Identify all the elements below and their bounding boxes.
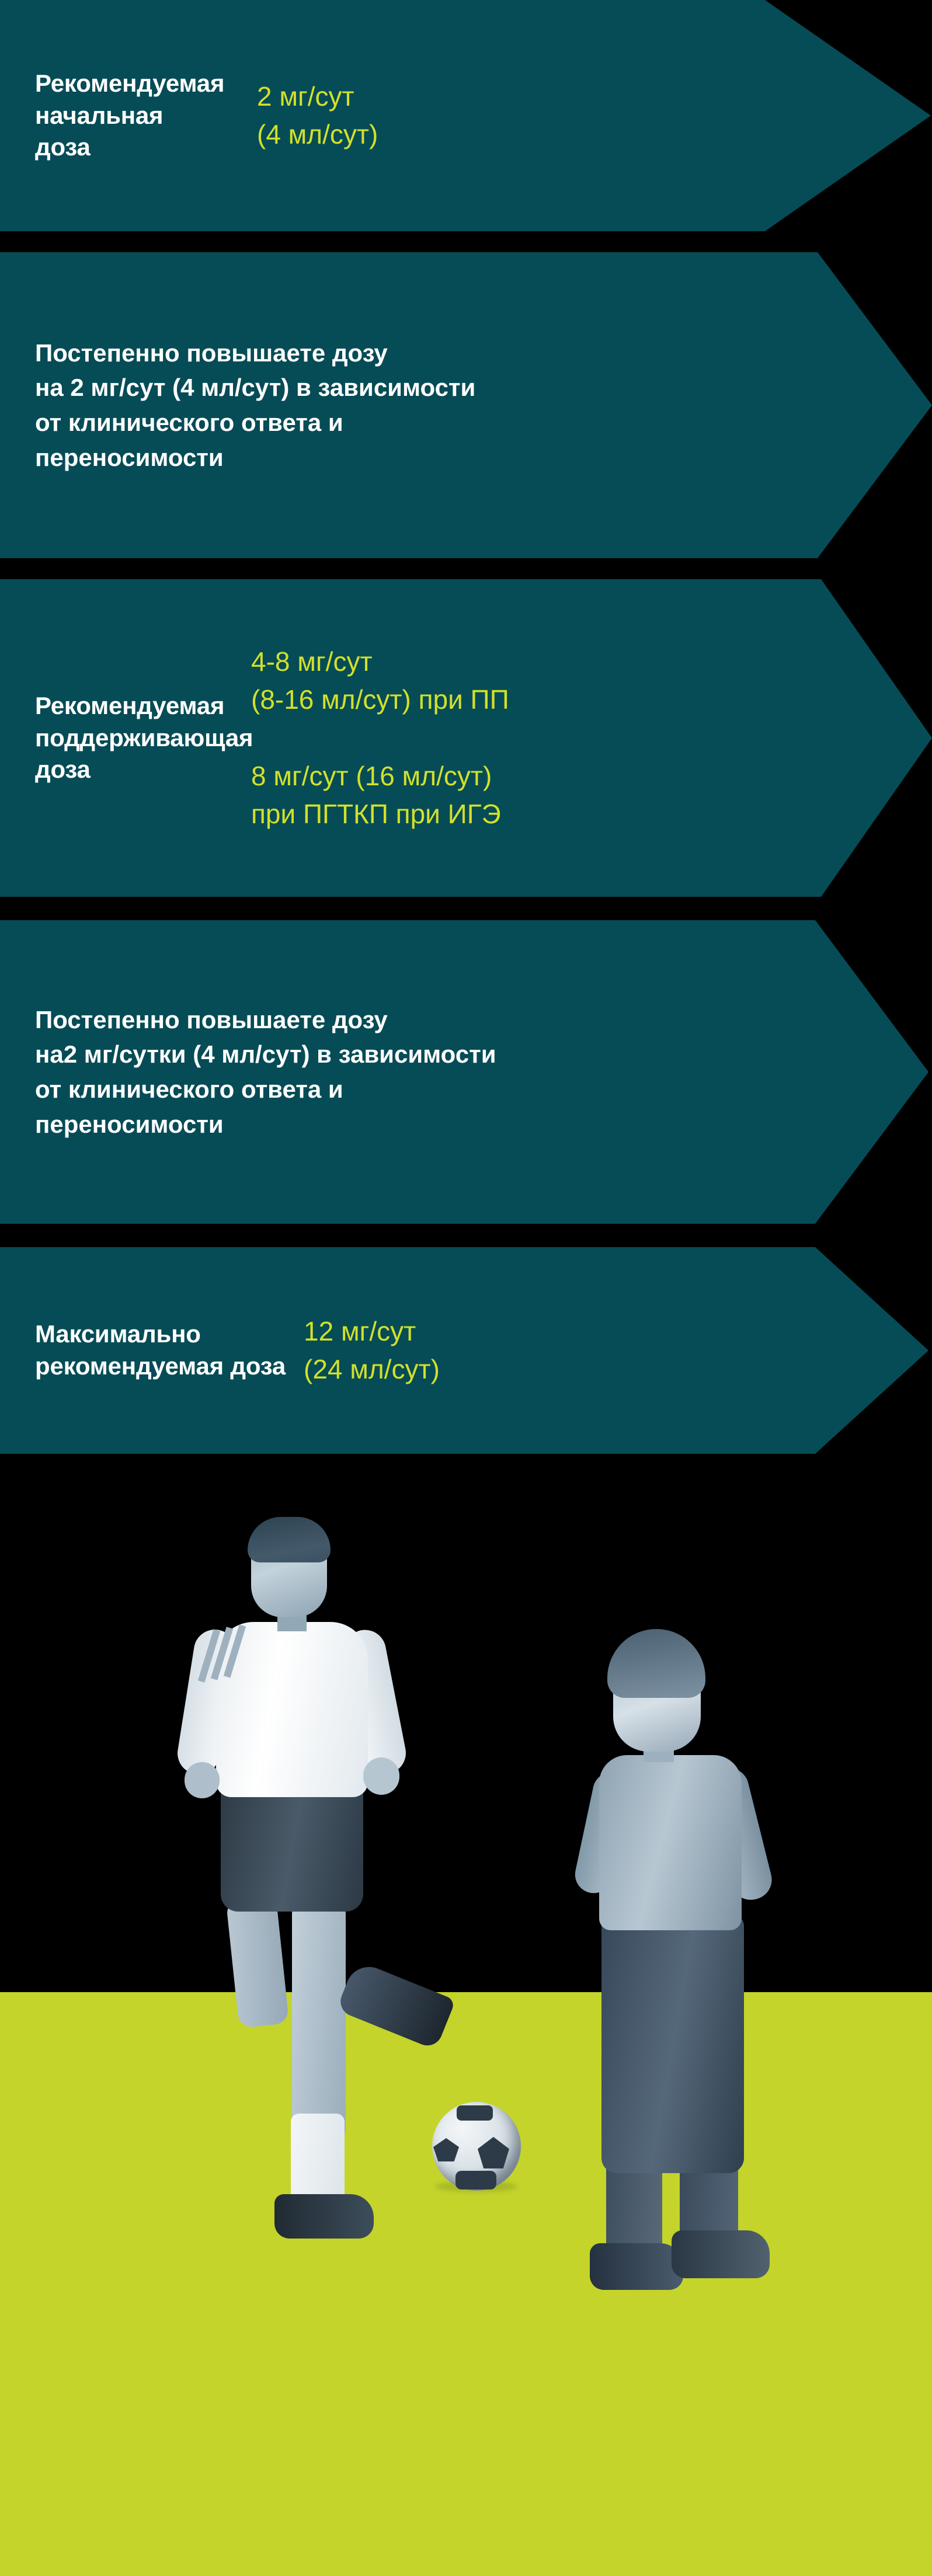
banner-starting-dose: Рекомендуемая начальная доза 2 мг/сут (4…: [0, 0, 932, 231]
footballers-photo: [0, 1454, 932, 2576]
ball-panel: [457, 2105, 493, 2121]
ball-panel: [433, 2138, 459, 2161]
maintenance-dose-value: 4-8 мг/сут (8-16 мл/сут) при ПП 8 мг/сут…: [251, 643, 509, 834]
maintenance-dose-label: Рекомендуемая поддерживающая доза: [35, 690, 216, 786]
boy-pants: [601, 1916, 744, 2173]
man-left-hand: [185, 1762, 220, 1798]
banner-maximum-dose: Максимально рекомендуемая доза 12 мг/сут…: [0, 1247, 932, 1454]
banner-titration-step-1: Постепенно повышаете дозу на 2 мг/сут (4…: [0, 252, 932, 558]
banner-titration-step-2: Постепенно повышаете дозу на2 мг/сутки (…: [0, 920, 932, 1224]
starting-dose-value: 2 мг/сут (4 мл/сут): [257, 78, 378, 154]
maximum-dose-value: 12 мг/сут (24 мл/сут): [304, 1313, 440, 1389]
banner-maintenance-dose: Рекомендуемая поддерживающая доза 4-8 мг…: [0, 579, 932, 897]
man-sock: [291, 2114, 345, 2201]
ball-panel: [478, 2137, 509, 2168]
titration-step-1-text: Постепенно повышаете дозу на 2 мг/сут (4…: [35, 336, 909, 475]
boy-torso-tshirt: [599, 1755, 742, 1930]
man-shorts: [221, 1784, 363, 1912]
green-band: [0, 1992, 932, 2576]
man-hair: [248, 1517, 331, 1562]
man-left-leg: [292, 1899, 346, 2144]
ball-panel: [455, 2171, 496, 2189]
infographic-sheet: Рекомендуемая начальная доза 2 мг/сут (4…: [0, 0, 932, 2576]
boy-left-shoe: [590, 2243, 683, 2290]
boy-right-shoe: [672, 2230, 770, 2278]
starting-dose-label: Рекомендуемая начальная доза: [35, 68, 210, 163]
man-left-boot: [274, 2194, 374, 2239]
titration-step-2-text: Постепенно повышаете дозу на2 мг/сутки (…: [35, 1002, 909, 1142]
man-right-hand: [363, 1757, 399, 1795]
maximum-dose-label: Максимально рекомендуемая доза: [35, 1318, 286, 1382]
boy-hair: [607, 1629, 705, 1698]
soccer-ball-icon: [432, 2102, 521, 2191]
